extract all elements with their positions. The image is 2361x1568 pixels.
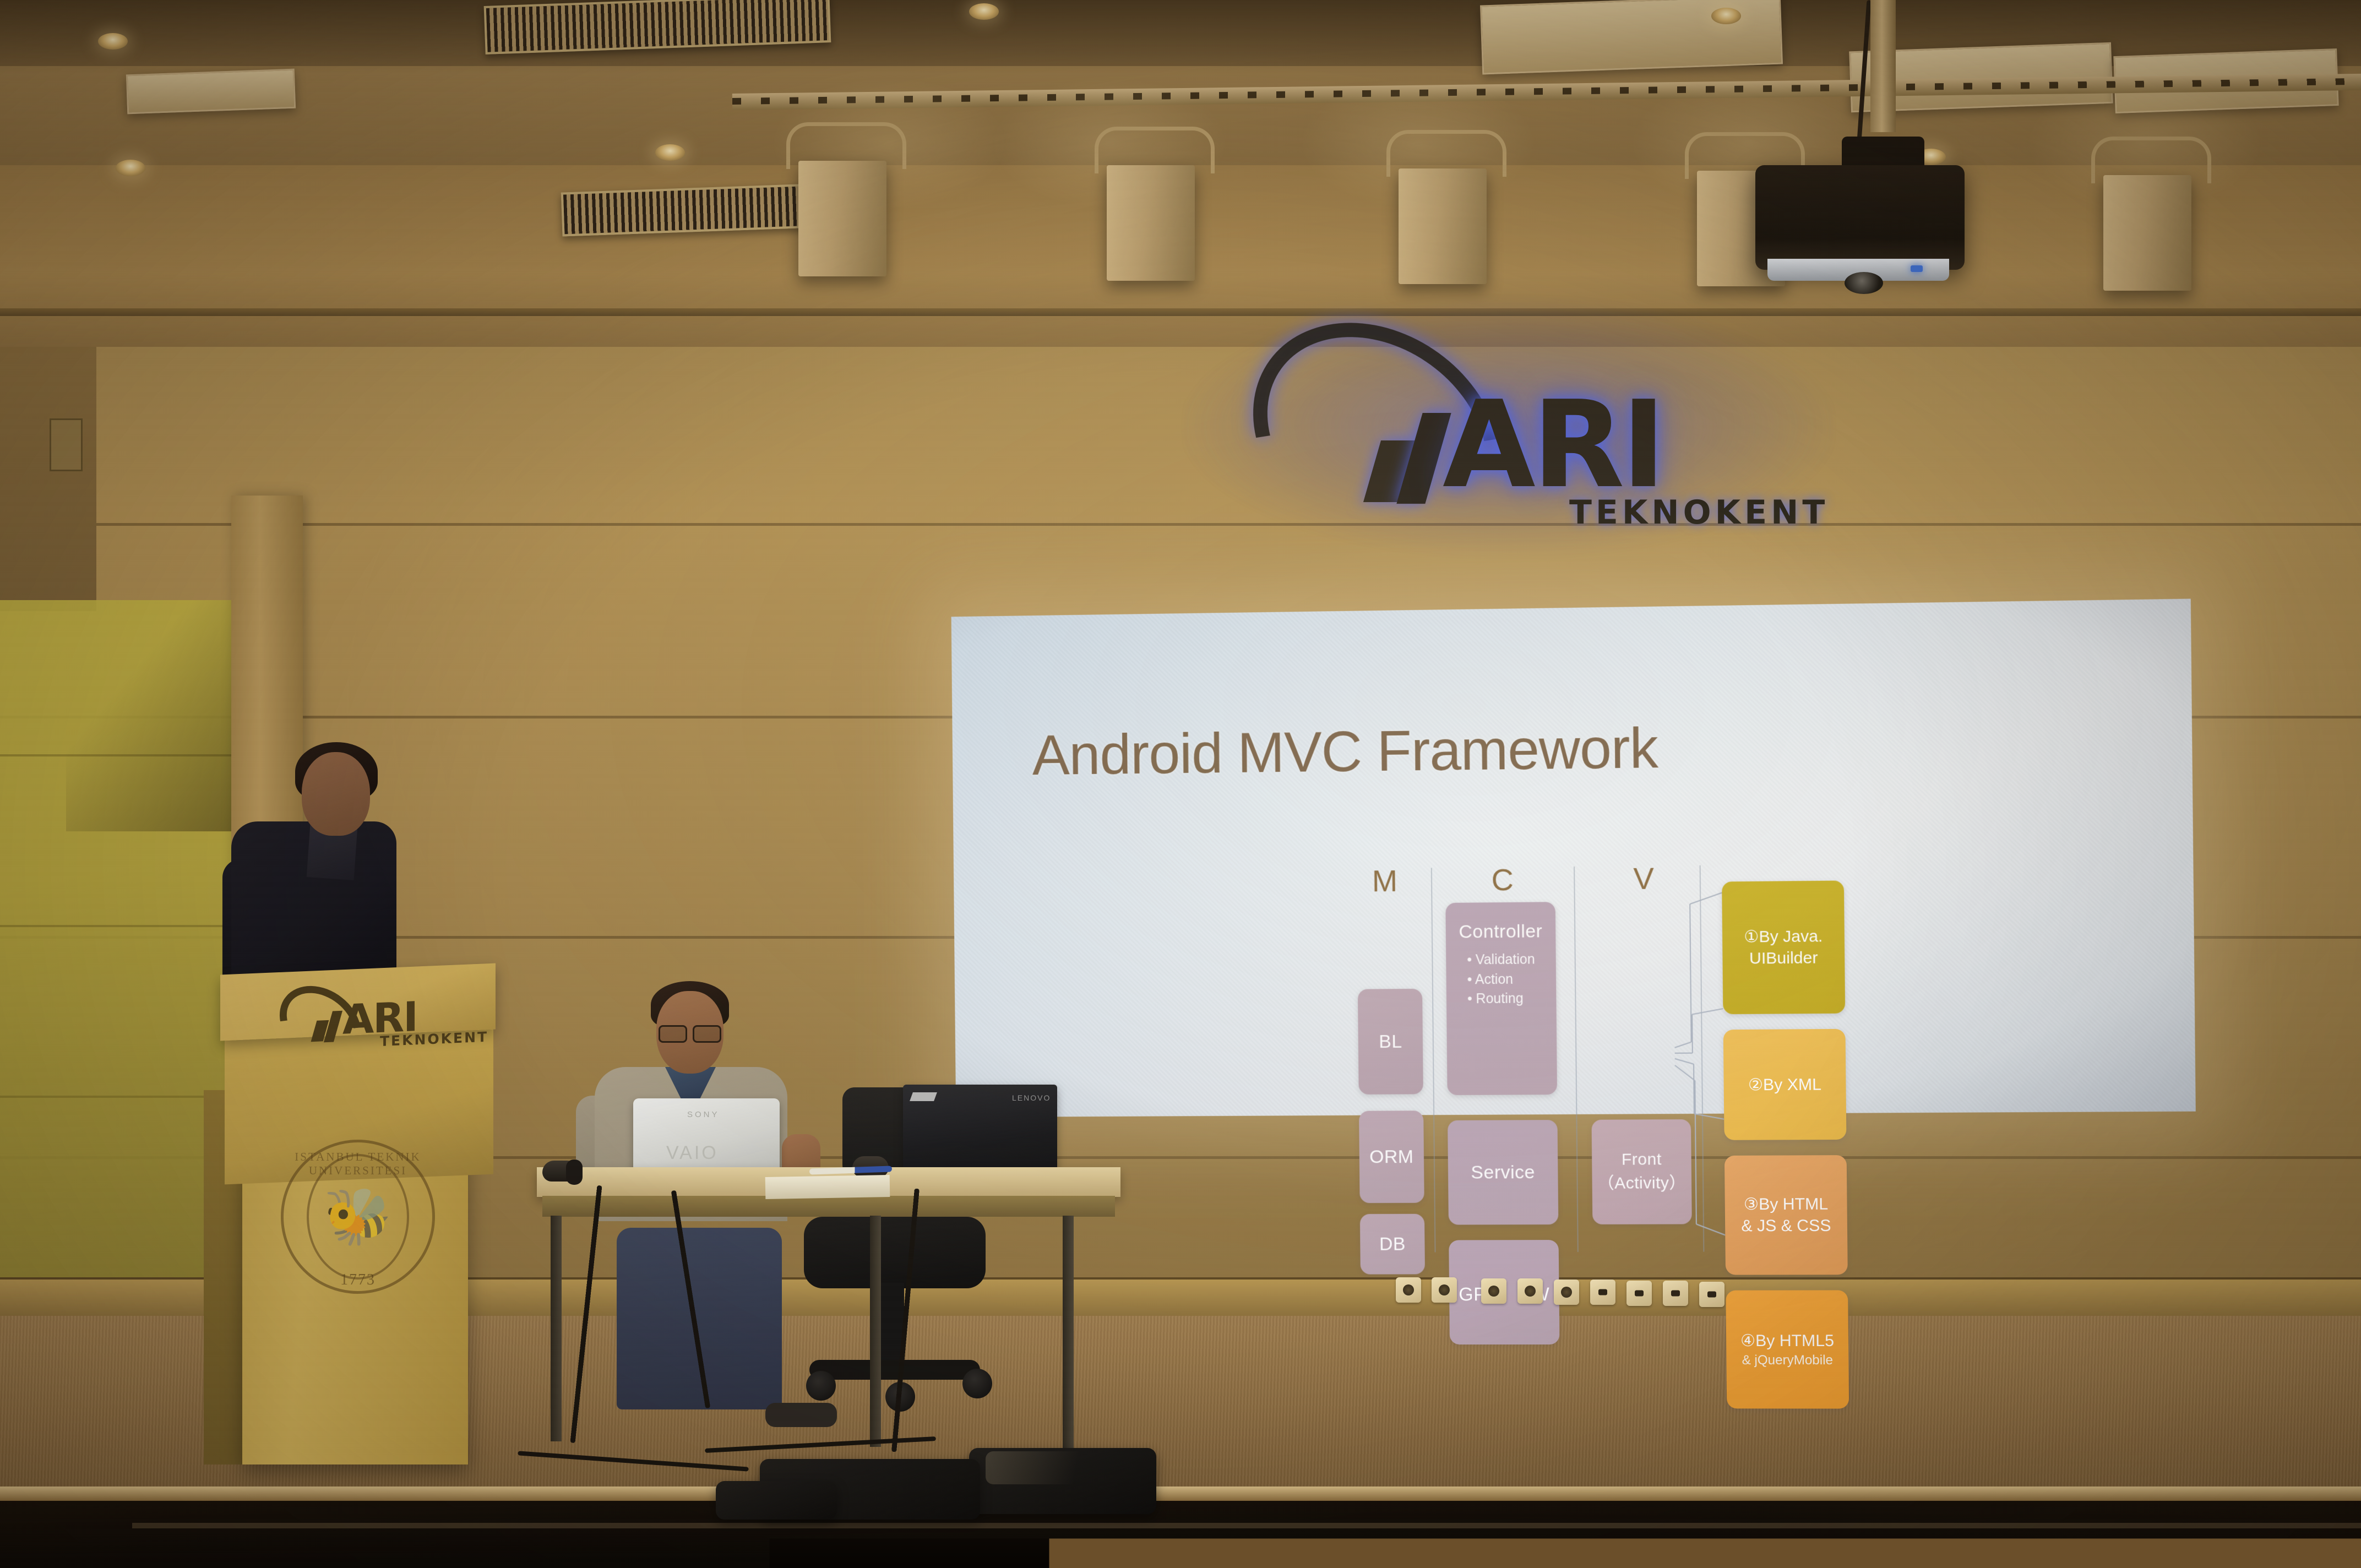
node-label-line1: Front [1622,1150,1662,1169]
chair-caster [962,1369,992,1398]
node-label: Controller [1459,921,1542,943]
sony-brand-label: SONY [687,1110,720,1119]
recessed-downlight [98,33,128,50]
data-port [1590,1280,1615,1305]
presenter-table-apron [542,1196,1115,1217]
node-label: DB [1379,1233,1406,1255]
column-letter-v: V [1633,860,1654,896]
node-bullet: • Validation [1467,950,1535,970]
lenovo-badge-icon [910,1092,937,1101]
wall-sign-wordmark: ARI [1443,385,1663,505]
node-impl-xml: ②By XML [1723,1029,1847,1140]
node-bullet-list: • Validation • Action • Routing [1467,950,1535,1009]
lecture-hall-photo: ARI TEKNOKENT Android MVC Framework M C … [0,0,2361,1568]
power-socket [1396,1277,1421,1303]
node-label: Service [1471,1162,1535,1183]
projection-screen: Android MVC Framework M C V BL [951,598,2196,1117]
wall-seam [0,523,2361,526]
wall-access-plate [50,418,83,471]
impl-line2: & JS & CSS [1741,1215,1831,1237]
column-letter-m: M [1372,863,1397,899]
ceiling-projector [1755,165,1965,270]
node-impl-java-uibuilder: ①By Java. UIBuilder [1722,880,1845,1014]
stage-spotlight [2103,175,2191,291]
screen-vignette [951,598,2196,1117]
table-leg [1063,1216,1074,1452]
recessed-downlight [116,160,145,176]
power-socket [1481,1278,1506,1304]
node-service: Service [1448,1120,1558,1224]
projector-mount-pole [1870,0,1896,132]
data-port [1626,1281,1652,1306]
power-socket [1432,1277,1457,1303]
bag-strap [716,1481,837,1520]
projector-lens [1845,272,1883,294]
node-label-line2: （Activity） [1597,1169,1686,1194]
impl-line1: ①By Java. [1744,925,1823,948]
node-bl: BL [1358,989,1423,1095]
impl-line1: ③By HTML [1744,1194,1829,1216]
table-leg [870,1216,881,1447]
node-impl-html5-jquerymobile: ④By HTML5 & jQueryMobile [1726,1290,1849,1408]
stage-edge [0,1487,2361,1501]
ceiling-air-vent [126,69,296,115]
node-label: ORM [1369,1146,1414,1168]
seal-year: 1773 [284,1271,432,1289]
column-letter-c: C [1491,862,1514,897]
data-port [1699,1282,1724,1307]
office-chair-seat [804,1217,986,1288]
alcove-seam [0,1096,231,1098]
wall-band-trim [0,308,2361,316]
node-front-activity: Front （Activity） [1592,1119,1692,1224]
left-wall-column [0,347,96,611]
impl-line2: & jQueryMobile [1742,1352,1833,1369]
university-seal: ISTANBUL TEKNIK UNIVERSITESI 🐝 1773 [281,1140,435,1294]
node-controller: Controller • Validation • Action • Routi… [1445,902,1557,1095]
recessed-downlight [655,144,685,161]
operator-shoe [765,1403,837,1427]
stage-spotlight [798,161,886,276]
presenter-head [302,752,370,836]
node-orm: ORM [1359,1110,1424,1203]
ari-teknokent-wall-sign: ARI TEKNOKENT [1233,330,1789,518]
alcove-seam [0,925,231,927]
recessed-downlight [969,3,999,20]
node-bullet: • Action [1467,970,1535,989]
stage-spotlight [1399,168,1487,284]
impl-line2: UIBuilder [1749,947,1818,969]
lenovo-brand-label: LENOVO [1012,1093,1051,1102]
microphone[interactable] [566,1159,583,1185]
stage-spotlight [1107,165,1195,281]
impl-line1: ②By XML [1748,1074,1821,1096]
foreground-dark-area [0,1501,2361,1568]
wall-sign-subtitle: TEKNOKENT [1569,493,1829,532]
power-socket [1554,1280,1579,1305]
bag-highlight [986,1451,1151,1484]
data-port [1663,1281,1688,1306]
front-row-rail [132,1523,2361,1528]
office-chair-base [809,1360,980,1380]
recessed-downlight [1711,8,1741,24]
alcove-shadow [66,600,231,831]
glasses-icon [659,1025,721,1039]
node-label: BL [1379,1031,1402,1052]
operator-legs [617,1228,782,1409]
vaio-wordmark: VAIO [666,1142,719,1164]
impl-line1: ④By HTML5 [1740,1330,1834,1352]
node-db: DB [1360,1214,1425,1275]
table-leg [551,1216,562,1441]
podium-ari-logo: ARI TEKNOKENT [275,982,457,1050]
node-bullet: • Routing [1467,989,1536,1009]
chair-caster [806,1371,836,1401]
seal-ring-text: ISTANBUL TEKNIK UNIVERSITESI [284,1150,432,1178]
power-socket [1517,1278,1543,1304]
notepad [765,1175,890,1199]
projector-status-led [1911,265,1923,272]
node-impl-html-js-css: ③By HTML & JS & CSS [1724,1155,1848,1275]
slide-title: Android MVC Framework [1032,716,1658,788]
